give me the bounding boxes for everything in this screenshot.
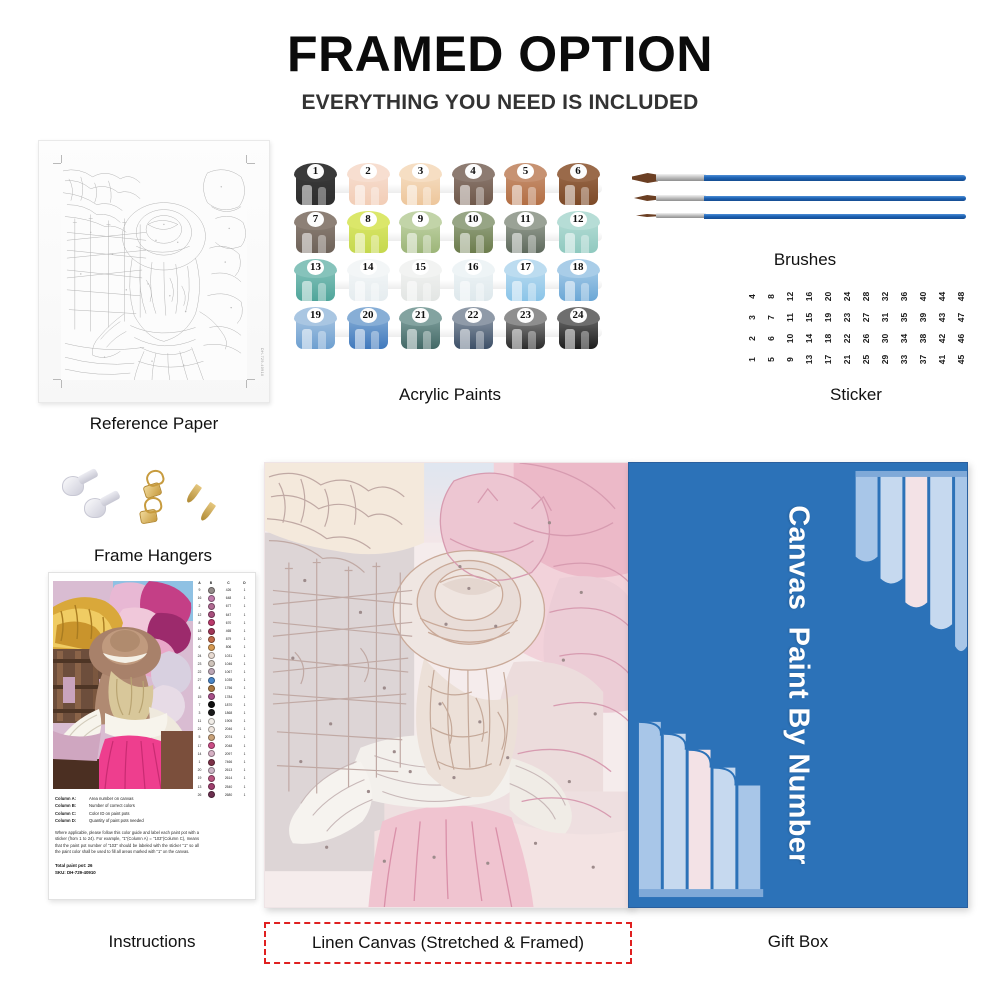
pot-number-label: 1 xyxy=(294,164,337,179)
sticker-number-30: 30 xyxy=(874,329,895,348)
pot-highlight xyxy=(581,283,589,301)
column-definition-value: Quantity of paint pots needed xyxy=(89,817,199,824)
legend-color-swatch xyxy=(208,742,215,749)
sticker-number-23: 23 xyxy=(836,308,857,327)
pot-number-label: 22 xyxy=(452,308,495,323)
legend-quantity: 1 xyxy=(240,637,249,641)
legend-area-number: 11 xyxy=(194,719,205,723)
sticker-number-10: 10 xyxy=(779,329,800,348)
sticker-number-25: 25 xyxy=(855,350,876,369)
legend-row: 94261 xyxy=(194,586,252,594)
legend-swatch-cell xyxy=(205,587,217,594)
legend-color-code: 677 xyxy=(217,604,240,608)
column-definition: Column C:Color ID on paint pots xyxy=(55,810,199,817)
legend-area-number: 22 xyxy=(194,670,205,674)
pot-number-label: 14 xyxy=(347,260,390,275)
pot-highlight xyxy=(302,329,312,349)
pot-highlight xyxy=(565,329,575,349)
paint-pot-4: 4 xyxy=(452,163,495,207)
legend-color-swatch xyxy=(208,775,215,782)
legend-swatch-cell xyxy=(205,734,217,741)
legend-color-swatch xyxy=(208,636,215,643)
sticker-number-38: 38 xyxy=(912,329,933,348)
legend-color-code: 465 xyxy=(217,629,240,633)
acrylic-paints-item: 123456789101112131415161718192021222324 xyxy=(292,162,608,362)
pot-highlight xyxy=(528,283,536,301)
sticker-number-grid: 4812162024283236404448371115192327313539… xyxy=(742,286,970,370)
legend-quantity: 1 xyxy=(240,785,249,789)
caption-reference-paper: Reference Paper xyxy=(38,414,270,434)
legend-color-swatch xyxy=(208,685,215,692)
legend-color-swatch xyxy=(208,611,215,618)
legend-color-swatch xyxy=(208,595,215,602)
legend-color-swatch xyxy=(208,709,215,716)
paint-pot-15: 15 xyxy=(399,259,442,303)
legend-area-number: 3 xyxy=(194,711,205,715)
legend-color-code: 1756 xyxy=(217,686,240,690)
sticker-number-20: 20 xyxy=(817,287,838,306)
pot-highlight xyxy=(565,281,575,301)
legend-area-number: 4 xyxy=(194,686,205,690)
brush-tip xyxy=(636,214,658,217)
sticker-number-28: 28 xyxy=(855,287,876,306)
pot-number-label: 24 xyxy=(557,308,600,323)
screw xyxy=(199,502,216,522)
legend-row: 520741 xyxy=(194,733,252,741)
pot-highlight xyxy=(423,187,431,205)
paint-pot-11: 11 xyxy=(504,211,547,255)
legend-quantity: 1 xyxy=(240,629,249,633)
column-definition-key: Column B: xyxy=(55,802,89,809)
sticker-number-44: 44 xyxy=(931,287,952,306)
pot-highlight xyxy=(423,331,431,349)
legend-quantity: 1 xyxy=(240,776,249,780)
legend-color-code: 879 xyxy=(217,637,240,641)
legend-row: 184651 xyxy=(194,627,252,635)
paint-pot-16: 16 xyxy=(452,259,495,303)
pot-highlight xyxy=(318,331,326,349)
legend-color-swatch xyxy=(208,644,215,651)
gift-box-title: Canvas Paint By Number xyxy=(782,505,815,865)
instructions-sku: SKU: DH-729-40910 xyxy=(55,869,199,876)
legend-swatch-cell xyxy=(205,611,217,618)
legend-swatch-cell xyxy=(205,750,217,757)
sticker-number-29: 29 xyxy=(874,350,895,369)
legend-swatch-cell xyxy=(205,603,217,610)
caption-sticker: Sticker xyxy=(742,385,970,405)
legend-quantity: 1 xyxy=(240,654,249,658)
brush-handle xyxy=(704,175,966,181)
pot-highlight xyxy=(355,281,365,301)
pot-highlight xyxy=(460,185,470,205)
legend-row: 166481 xyxy=(194,594,252,602)
sticker-number-32: 32 xyxy=(874,287,895,306)
legend-swatch-cell xyxy=(205,628,217,635)
instructions-sheet: ABCD942611664812677112647186701184651108… xyxy=(48,572,256,900)
sticker-number-34: 34 xyxy=(893,329,914,348)
legend-color-code: 2540 xyxy=(217,785,240,789)
pot-number-label: 21 xyxy=(399,308,442,323)
legend-color-swatch xyxy=(208,652,215,659)
pot-highlight xyxy=(565,185,575,205)
legend-swatch-cell xyxy=(205,693,217,700)
pot-number-label: 23 xyxy=(504,308,547,323)
sticker-number-4: 4 xyxy=(741,287,762,306)
legend-swatch-cell xyxy=(205,652,217,659)
pot-highlight xyxy=(302,233,312,253)
reference-paper-side-code: DH-729-40910 xyxy=(260,348,264,376)
sticker-number-22: 22 xyxy=(836,329,857,348)
legend-row: 2210671 xyxy=(194,668,252,676)
sticker-number-1: 1 xyxy=(741,350,762,369)
gift-box-item: Canvas Paint By Number xyxy=(628,462,968,908)
legend-quantity: 1 xyxy=(240,760,249,764)
column-definition: Column B:Number of correct colors xyxy=(55,802,199,809)
legend-header-A: A xyxy=(194,581,205,585)
sticker-number-3: 3 xyxy=(741,308,762,327)
legend-area-number: 18 xyxy=(194,629,205,633)
paint-pot-23: 23 xyxy=(504,307,547,351)
pot-highlight xyxy=(460,329,470,349)
legend-row: 2026131 xyxy=(194,766,252,774)
pot-highlight xyxy=(565,233,575,253)
reference-paper-lineart xyxy=(61,163,247,380)
pot-highlight xyxy=(355,185,365,205)
legend-row: 1720481 xyxy=(194,742,252,750)
legend-quantity: 1 xyxy=(240,662,249,666)
gift-box-line2: Paint By Number xyxy=(783,627,815,865)
brush-handle xyxy=(704,214,966,219)
sticker-number-33: 33 xyxy=(893,350,914,369)
paint-pot-3: 3 xyxy=(399,163,442,207)
instructions-total-paint-pot: Total paint pot: 26 xyxy=(55,862,199,869)
legend-color-code: 648 xyxy=(217,596,240,600)
legend-color-code: 7466 xyxy=(217,760,240,764)
legend-color-code: 1784 xyxy=(217,695,240,699)
legend-row: 2626801 xyxy=(194,791,252,799)
d-ring-loop xyxy=(143,496,164,515)
legend-color-code: 1870 xyxy=(217,703,240,707)
legend-quantity: 1 xyxy=(240,588,249,592)
legend-area-number: 20 xyxy=(194,768,205,772)
paint-pot-9: 9 xyxy=(399,211,442,255)
paint-pot-8: 8 xyxy=(347,211,390,255)
legend-area-number: 21 xyxy=(194,727,205,731)
instructions-item: ABCD942611664812677112647186701184651108… xyxy=(48,572,256,900)
paint-pot-18: 18 xyxy=(557,259,600,303)
legend-color-swatch xyxy=(208,783,215,790)
legend-color-code: 1067 xyxy=(217,670,240,674)
page-subtitle: EVERYTHING YOU NEED IS INCLUDED xyxy=(0,91,1000,115)
linen-canvas-artwork xyxy=(264,462,632,908)
legend-color-swatch xyxy=(208,693,215,700)
pot-highlight xyxy=(407,233,417,253)
column-definition-value: Number of correct colors xyxy=(89,802,199,809)
sticker-number-45: 45 xyxy=(950,350,971,369)
legend-area-number: 7 xyxy=(194,703,205,707)
sticker-number-27: 27 xyxy=(855,308,876,327)
pot-highlight xyxy=(512,185,522,205)
instructions-column-definitions: Column A:Area number on canvasColumn B:N… xyxy=(55,795,199,825)
legend-color-swatch xyxy=(208,718,215,725)
wall-plug-stem xyxy=(77,468,99,485)
instructions-paragraph: Where applicable, please follow this col… xyxy=(55,830,199,856)
legend-swatch-cell xyxy=(205,619,217,626)
legend-row: 2710351 xyxy=(194,676,252,684)
brush-handle xyxy=(704,196,966,201)
legend-color-code: 2048 xyxy=(217,744,240,748)
caption-linen-canvas: Linen Canvas (Stretched & Framed) xyxy=(312,933,584,953)
legend-color-swatch xyxy=(208,628,215,635)
pot-highlight xyxy=(476,235,484,253)
pot-highlight xyxy=(528,235,536,253)
pot-number-label: 12 xyxy=(557,212,600,227)
legend-row: 417561 xyxy=(194,684,252,692)
pot-highlight xyxy=(423,235,431,253)
column-definition-key: Column D: xyxy=(55,817,89,824)
legend-row: 26771 xyxy=(194,602,252,610)
legend-color-code: 806 xyxy=(217,645,240,649)
legend-quantity: 1 xyxy=(240,719,249,723)
legend-row: 1420971 xyxy=(194,750,252,758)
legend-quantity: 1 xyxy=(240,686,249,690)
legend-quantity: 1 xyxy=(240,613,249,617)
legend-row: 126471 xyxy=(194,611,252,619)
pot-number-label: 3 xyxy=(399,164,442,179)
reference-paper-sheet: DH-729-40910 xyxy=(38,140,270,403)
sticker-number-36: 36 xyxy=(893,287,914,306)
pot-number-label: 8 xyxy=(347,212,390,227)
brushes-item xyxy=(632,170,972,240)
legend-area-number: 24 xyxy=(194,654,205,658)
sticker-number-26: 26 xyxy=(855,329,876,348)
pot-highlight xyxy=(407,185,417,205)
pot-number-label: 20 xyxy=(347,308,390,323)
sticker-number-46: 46 xyxy=(950,329,971,348)
legend-quantity: 1 xyxy=(240,678,249,682)
sticker-number-13: 13 xyxy=(798,350,819,369)
legend-swatch-cell xyxy=(205,783,217,790)
legend-area-number: 9 xyxy=(194,588,205,592)
instructions-color-legend: ABCD942611664812677112647186701184651108… xyxy=(194,579,252,807)
legend-quantity: 1 xyxy=(240,768,249,772)
legend-quantity: 1 xyxy=(240,703,249,707)
legend-color-code: 2613 xyxy=(217,768,240,772)
legend-area-number: 27 xyxy=(194,678,205,682)
legend-row: 86701 xyxy=(194,619,252,627)
legend-color-swatch xyxy=(208,660,215,667)
brush-ferrule xyxy=(656,195,706,201)
legend-color-swatch xyxy=(208,734,215,741)
pot-highlight xyxy=(371,283,379,301)
legend-area-number: 19 xyxy=(194,776,205,780)
legend-color-code: 2046 xyxy=(217,727,240,731)
legend-color-code: 426 xyxy=(217,588,240,592)
legend-color-swatch xyxy=(208,750,215,757)
pot-highlight xyxy=(528,187,536,205)
column-definition: Column A:Area number on canvas xyxy=(55,795,199,802)
pot-number-label: 6 xyxy=(557,164,600,179)
frame-hangers-item xyxy=(58,468,248,540)
caption-linen-canvas-highlight: Linen Canvas (Stretched & Framed) xyxy=(264,922,632,964)
legend-header-D: D xyxy=(240,581,249,585)
pot-highlight xyxy=(460,233,470,253)
sticker-number-9: 9 xyxy=(779,350,800,369)
pot-number-label: 10 xyxy=(452,212,495,227)
legend-row: 174661 xyxy=(194,758,252,766)
pot-highlight xyxy=(512,233,522,253)
legend-quantity: 1 xyxy=(240,670,249,674)
legend-area-number: 12 xyxy=(194,613,205,617)
paint-pot-7: 7 xyxy=(294,211,337,255)
legend-quantity: 1 xyxy=(240,604,249,608)
pot-highlight xyxy=(302,185,312,205)
sticker-number-14: 14 xyxy=(798,329,819,348)
linen-canvas-item xyxy=(264,462,632,908)
pot-highlight xyxy=(371,187,379,205)
legend-quantity: 1 xyxy=(240,793,249,797)
pot-highlight xyxy=(512,329,522,349)
legend-color-swatch xyxy=(208,619,215,626)
product-infographic: FRAMED OPTION EVERYTHING YOU NEED IS INC… xyxy=(0,0,1000,1000)
pot-highlight xyxy=(581,235,589,253)
legend-color-code: 1035 xyxy=(217,678,240,682)
pot-number-label: 2 xyxy=(347,164,390,179)
legend-swatch-cell xyxy=(205,685,217,692)
legend-quantity: 1 xyxy=(240,711,249,715)
pot-highlight xyxy=(581,187,589,205)
pot-highlight xyxy=(302,281,312,301)
legend-color-code: 2614 xyxy=(217,776,240,780)
pot-number-label: 18 xyxy=(557,260,600,275)
legend-swatch-cell xyxy=(205,791,217,798)
legend-area-number: 16 xyxy=(194,596,205,600)
pot-highlight xyxy=(371,331,379,349)
wall-plug-stem xyxy=(99,490,121,507)
sticker-number-47: 47 xyxy=(950,308,971,327)
legend-quantity: 1 xyxy=(240,695,249,699)
legend-swatch-cell xyxy=(205,644,217,651)
legend-color-swatch xyxy=(208,677,215,684)
legend-quantity: 1 xyxy=(240,752,249,756)
legend-row: 1926141 xyxy=(194,774,252,782)
legend-area-number: 15 xyxy=(194,695,205,699)
sticker-item: 4812162024283236404448371115192327313539… xyxy=(742,286,970,370)
sticker-number-31: 31 xyxy=(874,308,895,327)
pot-number-label: 17 xyxy=(504,260,547,275)
legend-color-code: 1031 xyxy=(217,654,240,658)
legend-color-code: 647 xyxy=(217,613,240,617)
pot-number-label: 19 xyxy=(294,308,337,323)
sticker-number-15: 15 xyxy=(798,308,819,327)
caption-brushes: Brushes xyxy=(700,250,910,270)
legend-color-swatch xyxy=(208,767,215,774)
paint-pot-17: 17 xyxy=(504,259,547,303)
legend-swatch-cell xyxy=(205,595,217,602)
paint-pot-19: 19 xyxy=(294,307,337,351)
column-definition: Column D:Quantity of paint pots needed xyxy=(55,817,199,824)
legend-quantity: 1 xyxy=(240,735,249,739)
instructions-text-block: Column A:Area number on canvasColumn B:N… xyxy=(55,795,199,876)
legend-header-C: C xyxy=(217,581,240,585)
legend-row: 1325401 xyxy=(194,783,252,791)
pot-highlight xyxy=(318,283,326,301)
pot-highlight xyxy=(407,329,417,349)
legend-swatch-cell xyxy=(205,677,217,684)
legend-color-code: 1905 xyxy=(217,719,240,723)
sticker-number-43: 43 xyxy=(931,308,952,327)
legend-color-swatch xyxy=(208,791,215,798)
legend-quantity: 1 xyxy=(240,744,249,748)
paint-pot-13: 13 xyxy=(294,259,337,303)
sticker-number-18: 18 xyxy=(817,329,838,348)
legend-area-number: 2 xyxy=(194,604,205,608)
legend-swatch-cell xyxy=(205,709,217,716)
brush-ferrule xyxy=(656,213,706,218)
legend-color-code: 1868 xyxy=(217,711,240,715)
legend-header-row: ABCD xyxy=(194,579,252,586)
pot-number-label: 16 xyxy=(452,260,495,275)
legend-color-swatch xyxy=(208,668,215,675)
sticker-number-5: 5 xyxy=(760,350,781,369)
paint-pot-14: 14 xyxy=(347,259,390,303)
pot-number-label: 7 xyxy=(294,212,337,227)
pot-highlight xyxy=(407,281,417,301)
legend-quantity: 1 xyxy=(240,621,249,625)
gift-box-artwork: Canvas Paint By Number xyxy=(628,462,968,908)
legend-area-number: 1 xyxy=(194,760,205,764)
legend-area-number: 17 xyxy=(194,744,205,748)
paint-pot-20: 20 xyxy=(347,307,390,351)
legend-color-code: 2097 xyxy=(217,752,240,756)
pot-highlight xyxy=(355,233,365,253)
legend-quantity: 1 xyxy=(240,596,249,600)
legend-swatch-cell xyxy=(205,668,217,675)
sticker-number-24: 24 xyxy=(836,287,857,306)
pot-highlight xyxy=(476,187,484,205)
brush-tip xyxy=(632,173,658,183)
caption-frame-hangers: Frame Hangers xyxy=(48,546,258,566)
legend-swatch-cell xyxy=(205,759,217,766)
brush-tip xyxy=(634,195,658,201)
legend-area-number: 23 xyxy=(194,662,205,666)
legend-row: 108791 xyxy=(194,635,252,643)
legend-color-swatch xyxy=(208,759,215,766)
brush-ferrule xyxy=(656,174,706,181)
legend-swatch-cell xyxy=(205,742,217,749)
sticker-number-41: 41 xyxy=(931,350,952,369)
legend-swatch-cell xyxy=(205,701,217,708)
sticker-number-7: 7 xyxy=(760,308,781,327)
column-definition-value: Area number on canvas xyxy=(89,795,199,802)
legend-quantity: 1 xyxy=(240,645,249,649)
pot-highlight xyxy=(581,331,589,349)
legend-color-swatch xyxy=(208,603,215,610)
legend-area-number: 6 xyxy=(194,645,205,649)
column-definition-key: Column A: xyxy=(55,795,89,802)
sticker-number-37: 37 xyxy=(912,350,933,369)
sticker-number-12: 12 xyxy=(779,287,800,306)
caption-instructions: Instructions xyxy=(38,932,266,952)
pot-highlight xyxy=(318,235,326,253)
column-definition-key: Column C: xyxy=(55,810,89,817)
pot-highlight xyxy=(423,283,431,301)
legend-swatch-cell xyxy=(205,775,217,782)
legend-swatch-cell xyxy=(205,718,217,725)
sticker-number-6: 6 xyxy=(760,329,781,348)
legend-row: 2120461 xyxy=(194,725,252,733)
pot-highlight xyxy=(355,329,365,349)
